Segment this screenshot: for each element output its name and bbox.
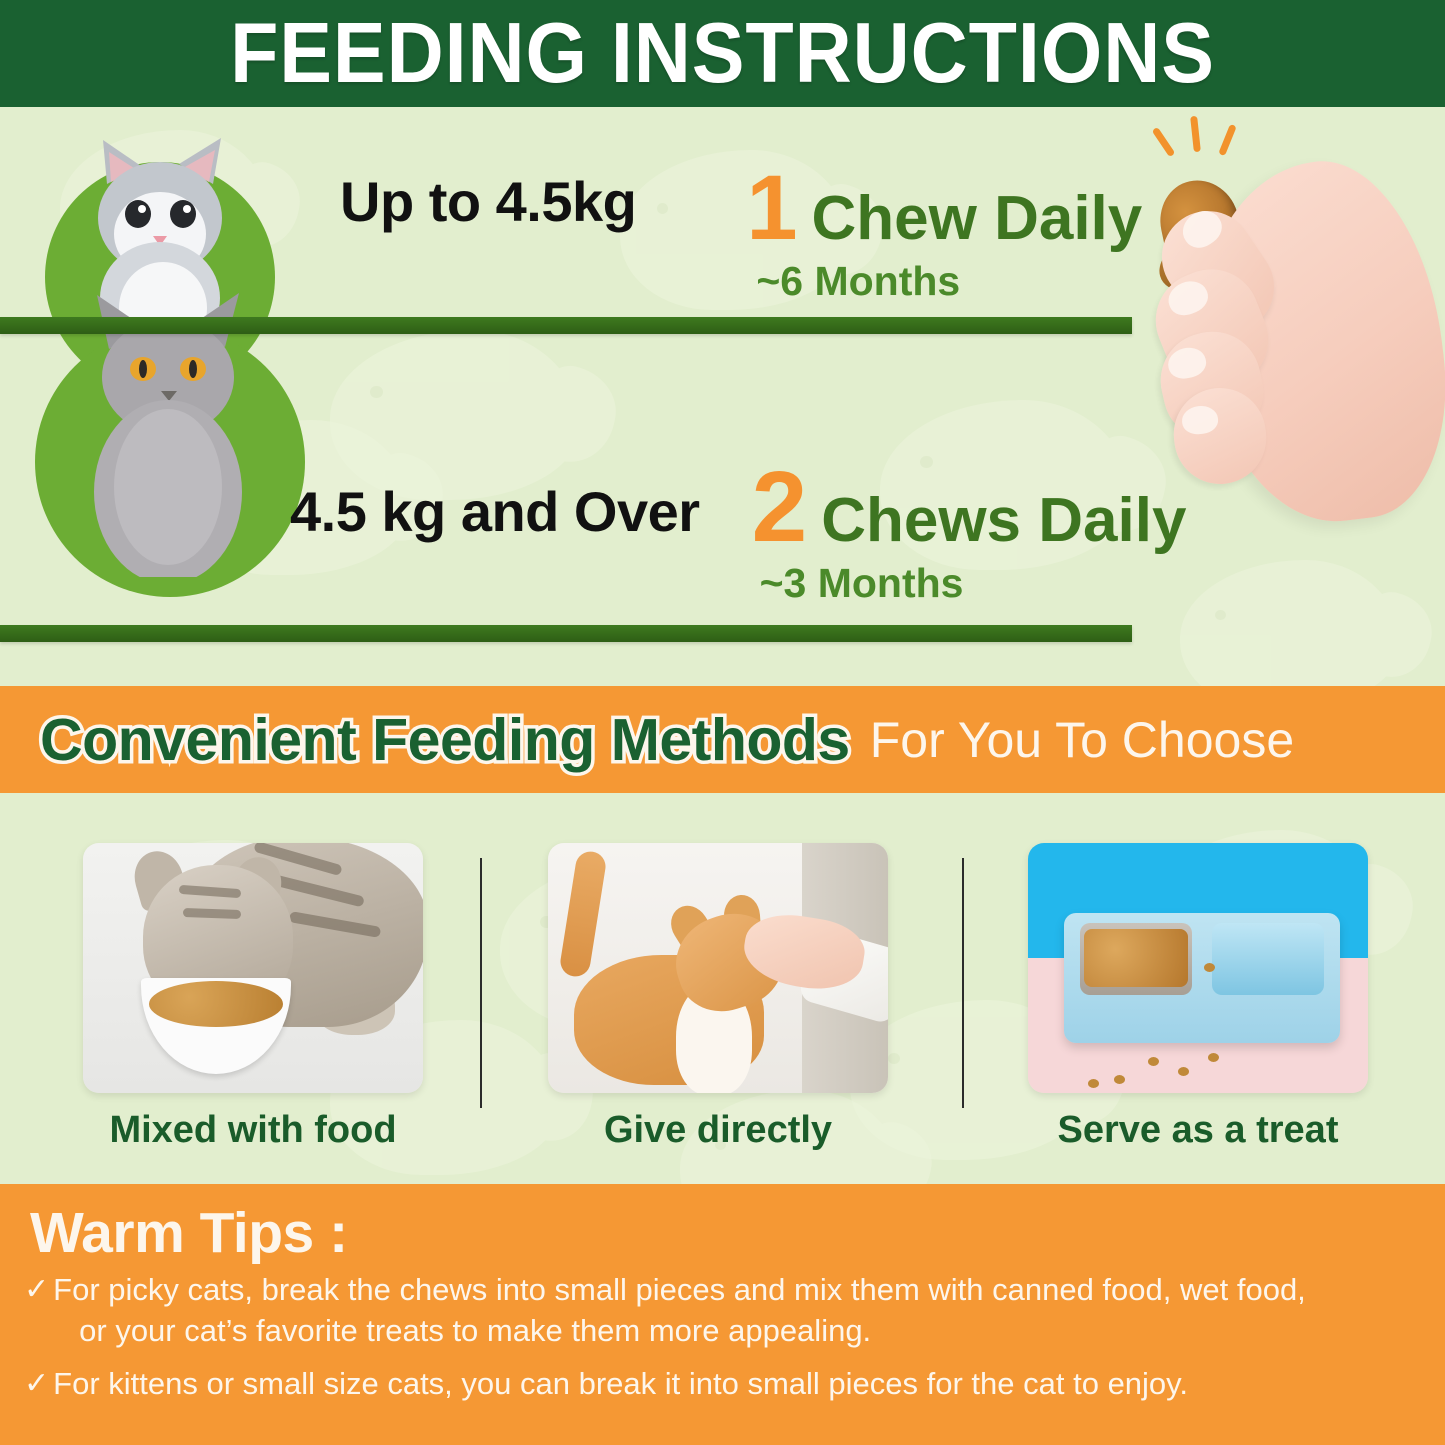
methods-banner: Convenient Feeding Methods For You To Ch… [0, 686, 1445, 793]
row-divider-2 [0, 625, 1132, 642]
check-icon: ✓ [24, 1364, 49, 1404]
warm-tip-text-1-cont: or your cat’s favorite treats to make th… [79, 1311, 1421, 1352]
warm-tips-section: Warm Tips : ✓ For picky cats, break the … [0, 1184, 1445, 1445]
method-photo-3 [1028, 843, 1368, 1093]
hand-holding-treat-image [1120, 120, 1445, 580]
page-header-banner: FEEDING INSTRUCTIONS [0, 0, 1445, 107]
warm-tip-item: ✓ For kittens or small size cats, you ca… [24, 1364, 1421, 1405]
method-photo-1 [83, 843, 423, 1093]
adult-cat-photo [35, 327, 305, 597]
check-icon: ✓ [24, 1270, 49, 1310]
feeding-row-1: Up to 4.5kg 1 Chew Daily ~6 Months [340, 169, 1142, 305]
warm-tip-text-2: For kittens or small size cats, you can … [53, 1364, 1421, 1405]
weight-label-2: 4.5 kg and Over [290, 479, 700, 544]
methods-section: Mixed with food Give directly [0, 793, 1445, 1184]
chew-count-2: 2 [752, 465, 808, 550]
method-item-give-directly: Give directly [520, 793, 950, 1184]
sparkle-icon [1152, 127, 1176, 157]
duration-label-1: ~6 Months [756, 258, 1142, 305]
method-divider-2 [962, 858, 964, 1108]
row-divider-1 [0, 317, 1132, 334]
methods-title: Convenient Feeding Methods [40, 706, 850, 774]
feeding-row-2: 4.5 kg and Over 2 Chews Daily ~3 Months [290, 479, 1186, 607]
warm-tip-item: ✓ For picky cats, break the chews into s… [24, 1270, 1421, 1352]
weight-label-1: Up to 4.5kg [340, 169, 636, 234]
warm-tip-text-1: For picky cats, break the chews into sma… [53, 1272, 1306, 1307]
sparkle-icon [1190, 116, 1201, 153]
method-item-mixed-with-food: Mixed with food [55, 793, 485, 1184]
method-caption-2: Give directly [520, 1109, 916, 1152]
method-photo-2 [548, 843, 888, 1093]
method-caption-1: Mixed with food [55, 1109, 451, 1152]
warm-tips-title: Warm Tips : [30, 1200, 1421, 1266]
page-title: FEEDING INSTRUCTIONS [230, 11, 1215, 96]
chew-count-1: 1 [746, 169, 797, 247]
sparkle-icon [1218, 124, 1236, 156]
method-item-serve-as-treat: Serve as a treat [1000, 793, 1430, 1184]
chew-label-1: Chew Daily [812, 183, 1143, 254]
feeding-instructions-page: FEEDING INSTRUCTIONS [0, 0, 1445, 1445]
methods-subtitle: For You To Choose [870, 711, 1294, 769]
method-caption-3: Serve as a treat [1000, 1109, 1396, 1152]
